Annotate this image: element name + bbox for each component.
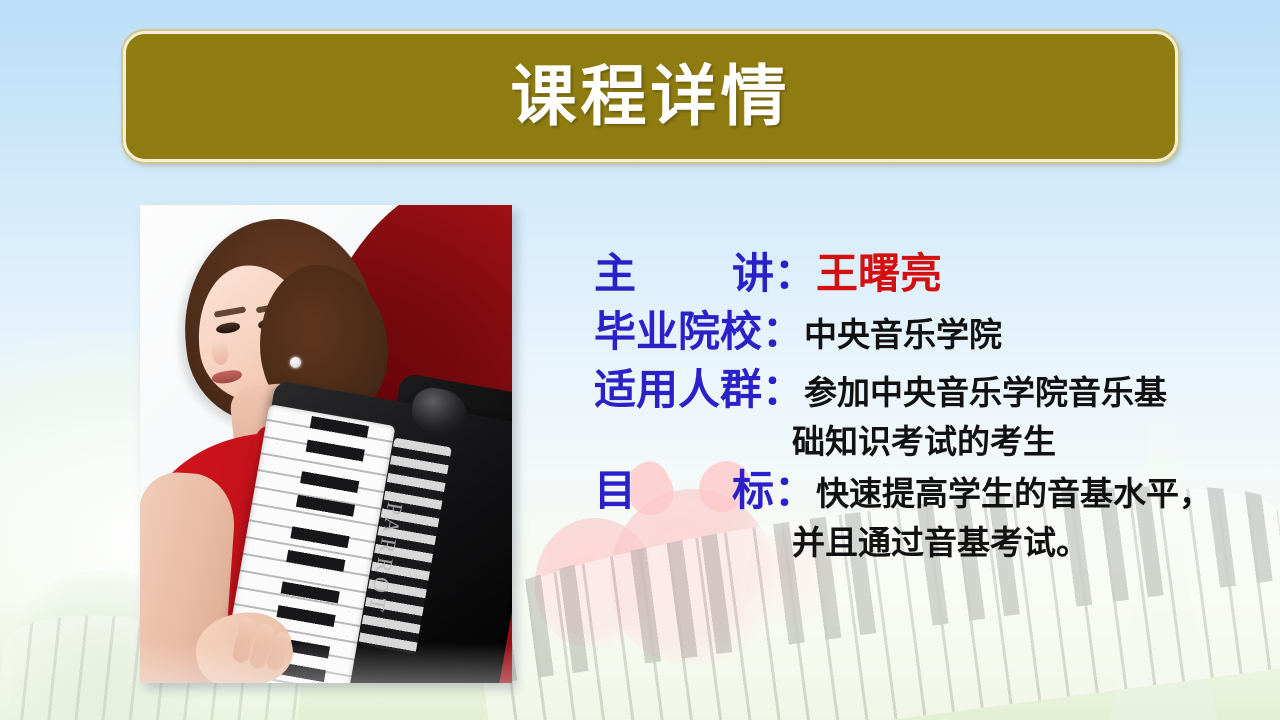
info-value-audience: 参加中央音乐学院音乐基: [804, 371, 1167, 415]
info-row-goal: 目标： 快速提高学生的音基水平， 并且通过音基考试。: [594, 463, 1254, 565]
slide-canvas: 课程详情 PARR: [0, 0, 1280, 720]
info-value-audience-line2: 础知识考试的考生: [594, 420, 1254, 464]
title-banner: 课程详情: [123, 31, 1178, 162]
instructor-photo: PARROT: [140, 205, 512, 683]
photo-bottom-fade: [140, 643, 512, 683]
info-label-instructor: 主讲：: [594, 246, 816, 302]
info-row-school: 毕业院校： 中央音乐学院: [594, 304, 1254, 360]
info-value-instructor: 王曙亮: [816, 246, 942, 302]
course-info-block: 主讲： 王曙亮 毕业院校： 中央音乐学院 适用人群： 参加中央音乐学院音乐基 础…: [594, 246, 1254, 565]
info-label-school: 毕业院校：: [594, 304, 804, 360]
photo-inner: PARROT: [140, 205, 512, 683]
info-row-instructor: 主讲： 王曙亮: [594, 246, 1254, 302]
info-value-goal-line2: 并且通过音基考试。: [594, 521, 1254, 565]
info-label-audience: 适用人群：: [594, 362, 804, 418]
info-value-school: 中央音乐学院: [804, 313, 1002, 357]
earring-icon: [290, 357, 301, 368]
info-row-audience: 适用人群： 参加中央音乐学院音乐基 础知识考试的考生: [594, 362, 1254, 464]
page-title: 课程详情: [511, 64, 791, 130]
info-value-goal: 快速提高学生的音基水平，: [816, 472, 1212, 516]
info-label-goal: 目标：: [594, 463, 816, 519]
